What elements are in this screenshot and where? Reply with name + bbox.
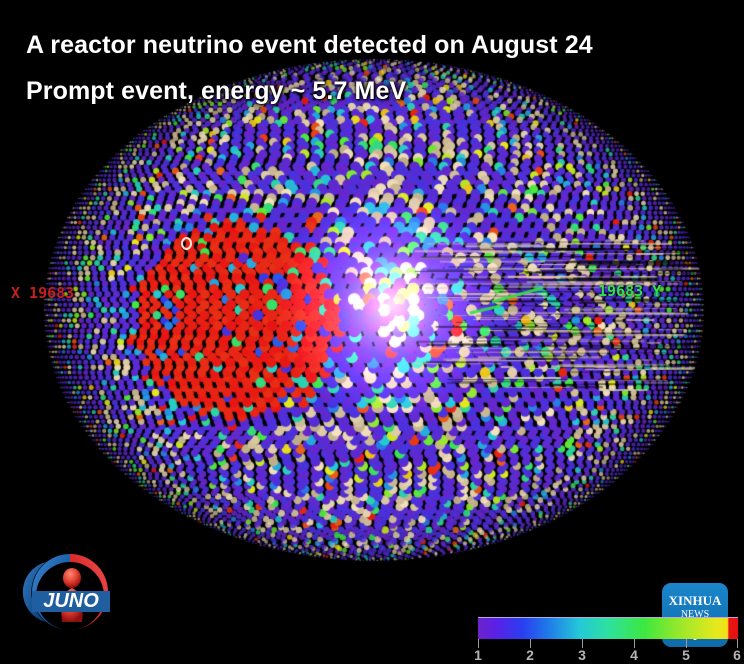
- axis-label-x: X 19683: [11, 284, 74, 302]
- axis-label-y: 19683 Y: [598, 282, 661, 300]
- colorbar-gradient: [478, 617, 738, 639]
- juno-logo: JUNO: [16, 548, 124, 636]
- pmt-sphere-canvas: [40, 55, 708, 565]
- pmt-sphere: [40, 55, 708, 565]
- colorbar-tick-label: 6: [733, 647, 741, 663]
- colorbar-tick-label: 4: [630, 647, 638, 663]
- xinhua-logo-line1: XINHUA: [669, 593, 722, 608]
- colorbar-tick-label: 3: [578, 647, 586, 663]
- event-display-screenshot: X 19683 19683 Y A reactor neutrino event…: [0, 0, 744, 664]
- charge-colorbar: 123456: [478, 617, 738, 661]
- colorbar-tick-label: 1: [474, 647, 482, 663]
- colorbar-tick-label: 2: [526, 647, 534, 663]
- event-vertex-marker: [181, 237, 192, 250]
- juno-logo-graphic: JUNO: [16, 548, 124, 636]
- juno-figure-head: [63, 568, 81, 588]
- caption-block: A reactor neutrino event detected on Aug…: [26, 22, 726, 114]
- colorbar-tick-label: 5: [682, 647, 690, 663]
- juno-wordmark: JUNO: [43, 590, 99, 612]
- caption-line-title: A reactor neutrino event detected on Aug…: [26, 22, 726, 68]
- caption-line-subtitle: Prompt event, energy ~ 5.7 MeV: [26, 68, 726, 114]
